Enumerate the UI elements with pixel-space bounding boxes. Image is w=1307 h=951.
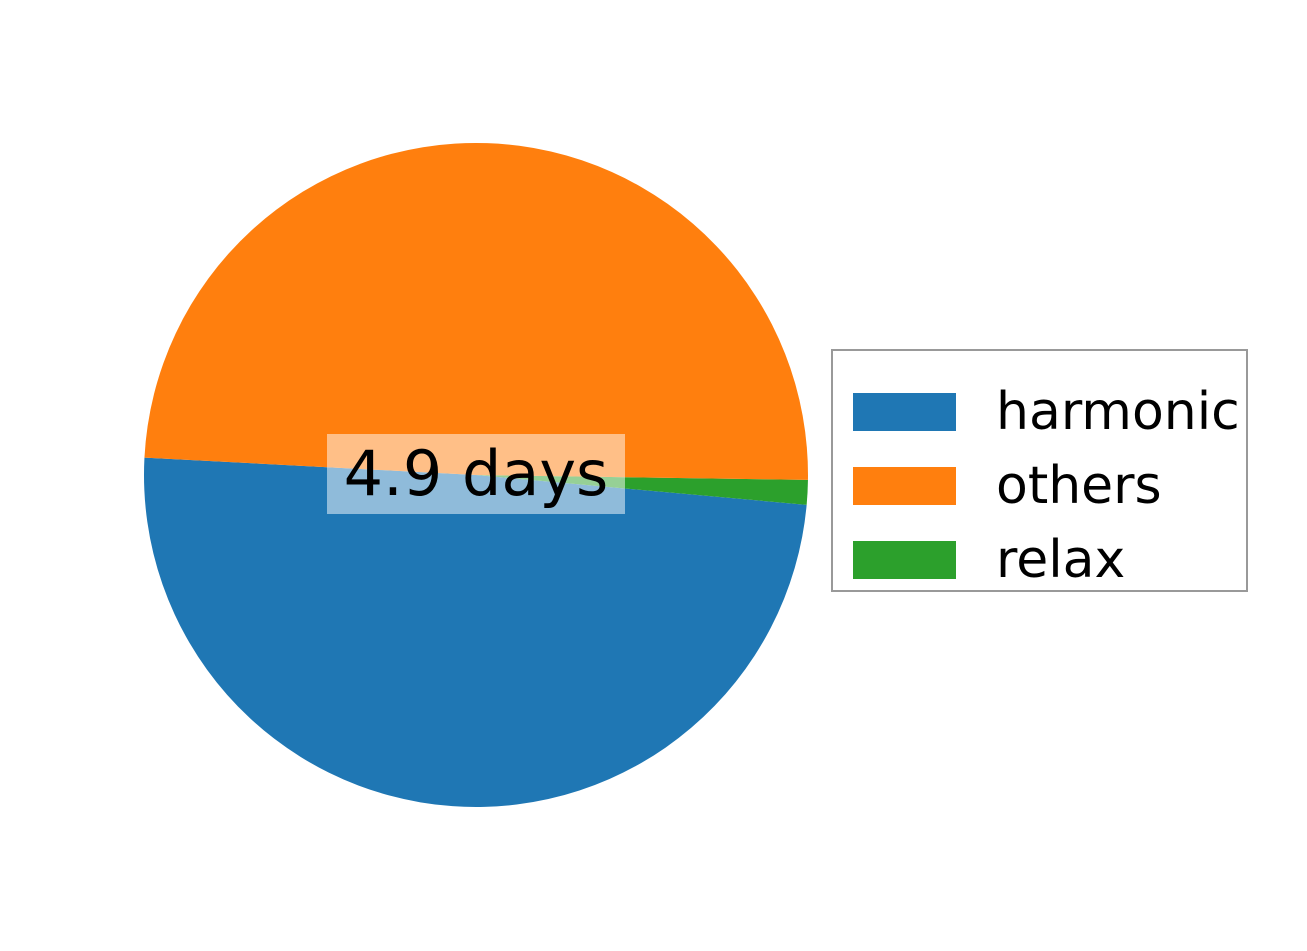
legend-entry-list: harmonic others relax xyxy=(833,351,1246,590)
chart-legend: harmonic others relax xyxy=(831,349,1248,592)
legend-entry-relax[interactable]: relax xyxy=(853,523,1246,597)
pie-chart-figure: 4.9 days harmonic others relax xyxy=(0,0,1307,951)
legend-label-relax: relax xyxy=(996,534,1125,586)
legend-swatch-others xyxy=(853,467,956,505)
pie-wedge-others[interactable] xyxy=(144,143,808,480)
legend-entry-others[interactable]: others xyxy=(853,449,1246,523)
legend-swatch-harmonic xyxy=(853,393,956,431)
pie-center-label: 4.9 days xyxy=(327,434,625,514)
legend-label-others: others xyxy=(996,460,1162,512)
legend-swatch-relax xyxy=(853,541,956,579)
legend-entry-harmonic[interactable]: harmonic xyxy=(853,375,1246,449)
legend-label-harmonic: harmonic xyxy=(996,386,1240,438)
